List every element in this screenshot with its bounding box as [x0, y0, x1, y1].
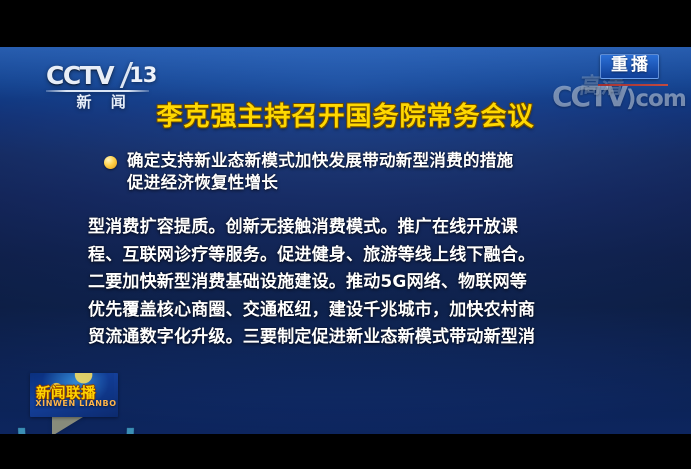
channel-number: 13	[129, 65, 156, 86]
body-text-block: 型消费扩容提质。创新无接触消费模式。推广在线开放课 程、互联网诊疗等服务。促进健…	[88, 214, 618, 352]
headline: 李克强主持召开国务院常务会议	[0, 96, 691, 133]
rebroadcast-badge: 重播	[600, 54, 659, 79]
subtitle-lines: 确定支持新业态新模式加快发展带动新型消费的措施 促进经济恢复性增长	[127, 150, 513, 194]
xinwen-lianbo-logo: 新闻联播 XINWEN LIANBO	[30, 373, 118, 417]
subtitle-block: 确定支持新业态新模式加快发展带动新型消费的措施 促进经济恢复性增长	[104, 150, 624, 194]
body-line-4: 优先覆盖核心商圈、交通枢纽，建设千兆城市，加快农村商	[88, 297, 618, 325]
body-line-5: 贸流通数字化升级。三要制定促进新业态新模式带动新型消	[88, 324, 618, 352]
subtitle-line-1: 确定支持新业态新模式加快发展带动新型消费的措施	[127, 150, 513, 172]
rebroadcast-label: 重播	[608, 57, 651, 75]
body-line-2: 程、互联网诊疗等服务。促进健身、旅游等线上线下融合。	[88, 242, 618, 270]
letterbox-top	[0, 0, 691, 47]
cctv-logo-row: CCTV 13	[46, 62, 156, 88]
broadcast-screen: CCTV 13 新 闻 高清 CCTV)com 重播 李克强主持召开国务院常务会…	[0, 0, 691, 469]
headline-text: 李克强主持召开国务院常务会议	[156, 96, 534, 133]
subtitle-line-2: 促进经济恢复性增长	[127, 172, 513, 194]
body-line-1: 型消费扩容提质。创新无接触消费模式。推广在线开放课	[88, 214, 618, 242]
cctv-logo-underline	[46, 90, 149, 92]
letterbox-bottom	[0, 434, 691, 469]
bullet-dot-icon	[104, 156, 117, 169]
cctv-wordmark: CCTV	[46, 63, 113, 88]
rebroadcast-accent-line	[598, 84, 668, 86]
program-name-en: XINWEN LIANBO	[35, 399, 117, 408]
body-line-3: 二要加快新型消费基础设施建设。推动5G网络、物联网等	[88, 269, 618, 297]
